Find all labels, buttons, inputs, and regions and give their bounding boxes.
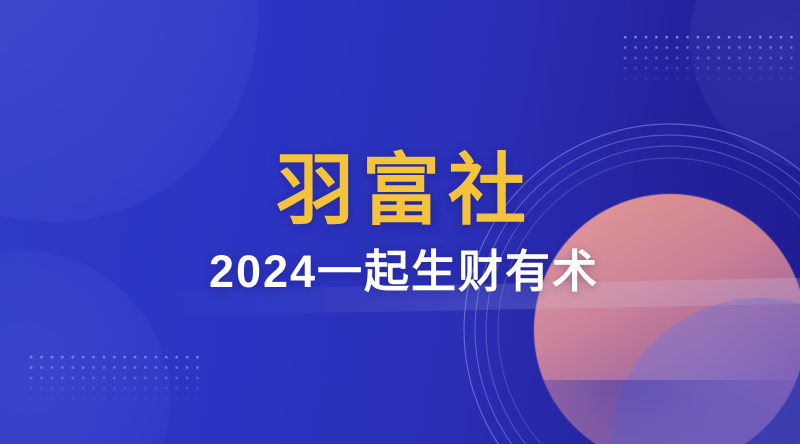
banner-subtitle: 2024一起生财有术 — [209, 249, 599, 294]
promo-banner: 羽富社 2024一起生财有术 — [0, 0, 800, 444]
banner-title: 羽富社 — [276, 151, 534, 229]
banner-content: 羽富社 2024一起生财有术 — [0, 0, 800, 444]
